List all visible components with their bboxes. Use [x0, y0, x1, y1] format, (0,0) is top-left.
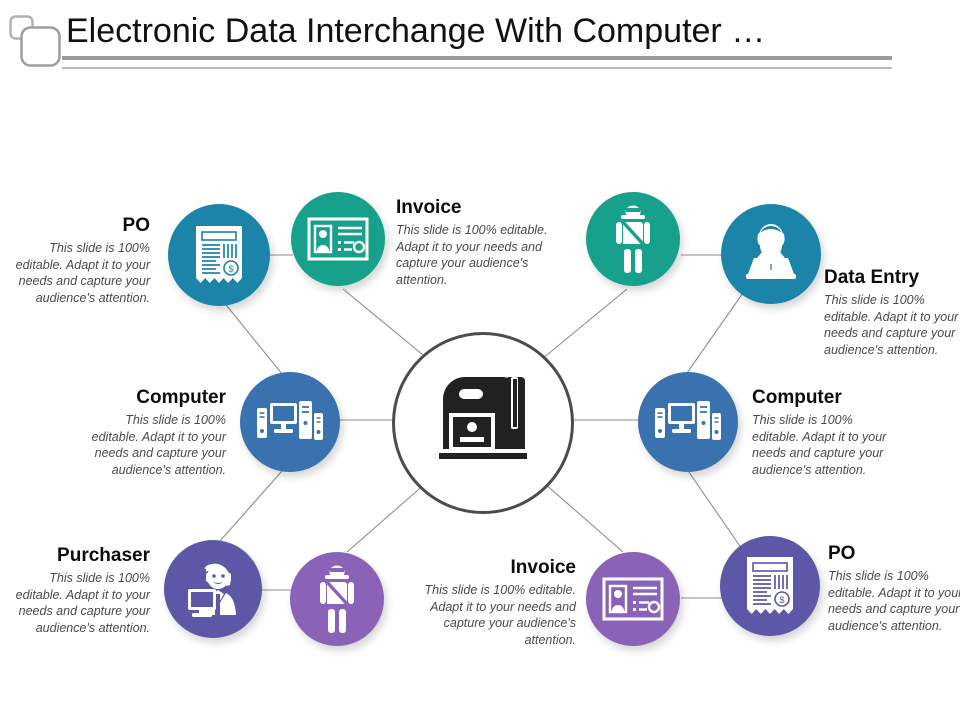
person-at-laptop-icon — [740, 224, 802, 284]
body-computer-right: This slide is 100% editable. Adapt it to… — [752, 412, 902, 479]
node-computer-right[interactable] — [638, 372, 738, 472]
node-invoice-top-left[interactable] — [291, 192, 385, 286]
text-block-po-bottom-right: PO This slide is 100% editable. Adapt it… — [828, 544, 960, 634]
title-underline-rule — [62, 56, 892, 69]
label-po-top-left: PO — [2, 216, 150, 237]
node-computer-left[interactable] — [240, 372, 340, 472]
label-computer-right: Computer — [752, 388, 902, 409]
text-block-purchaser: Purchaser This slide is 100% editable. A… — [2, 546, 150, 636]
label-purchaser: Purchaser — [2, 546, 150, 567]
page-title: Electronic Data Interchange With Compute… — [66, 12, 896, 51]
node-data-entry-top-right[interactable] — [721, 204, 821, 304]
node-po-top-left[interactable]: $ — [168, 204, 270, 306]
id-card-icon — [307, 217, 369, 261]
node-po-bottom-right[interactable]: $ — [720, 536, 820, 636]
desktop-computer-icon — [257, 397, 323, 447]
body-computer-left: This slide is 100% editable. Adapt it to… — [78, 412, 226, 479]
body-purchaser: This slide is 100% editable. Adapt it to… — [2, 570, 150, 637]
slide-canvas: Electronic Data Interchange With Compute… — [0, 0, 960, 720]
body-data-entry: This slide is 100% editable. Adapt it to… — [824, 292, 960, 359]
node-mailman-top-right[interactable] — [586, 192, 680, 286]
slide-header: Electronic Data Interchange With Compute… — [0, 0, 960, 84]
text-block-computer-right: Computer This slide is 100% editable. Ad… — [752, 388, 902, 478]
invoice-receipt-icon: $ — [741, 555, 799, 617]
body-invoice-top-left: This slide is 100% editable. Adapt it to… — [396, 222, 556, 289]
hub-node-mailbox[interactable] — [392, 332, 574, 514]
node-purchaser-bottom-left[interactable] — [164, 540, 262, 638]
body-po-top-left: This slide is 100% editable. Adapt it to… — [2, 240, 150, 307]
label-invoice-bottom-right: Invoice — [416, 558, 576, 579]
svg-text:$: $ — [228, 264, 233, 274]
body-invoice-bottom-right: This slide is 100% editable. Adapt it to… — [416, 582, 576, 649]
text-block-data-entry: Data Entry This slide is 100% editable. … — [824, 268, 960, 358]
desktop-computer-icon — [655, 397, 721, 447]
node-mailman-bottom-left[interactable] — [290, 552, 384, 646]
id-card-icon — [602, 577, 664, 621]
label-po-bottom-right: PO — [828, 544, 960, 565]
text-block-invoice-bottom-right: Invoice This slide is 100% editable. Ada… — [416, 558, 576, 648]
overlapping-rounded-squares-logo-icon — [8, 14, 64, 70]
mailbox-icon — [429, 373, 537, 474]
label-data-entry: Data Entry — [824, 268, 960, 289]
node-invoice-bottom-right[interactable] — [586, 552, 680, 646]
svg-text:$: $ — [779, 595, 784, 605]
support-agent-icon — [182, 560, 244, 618]
label-invoice-top-left: Invoice — [396, 198, 556, 219]
postal-worker-icon — [313, 564, 361, 634]
postal-worker-icon — [609, 204, 657, 274]
body-po-bottom-right: This slide is 100% editable. Adapt it to… — [828, 568, 960, 635]
text-block-invoice-top-left: Invoice This slide is 100% editable. Ada… — [396, 198, 556, 288]
invoice-receipt-icon: $ — [190, 224, 248, 286]
text-block-computer-left: Computer This slide is 100% editable. Ad… — [78, 388, 226, 478]
text-block-po-top-left: PO This slide is 100% editable. Adapt it… — [2, 216, 150, 306]
label-computer-left: Computer — [78, 388, 226, 409]
